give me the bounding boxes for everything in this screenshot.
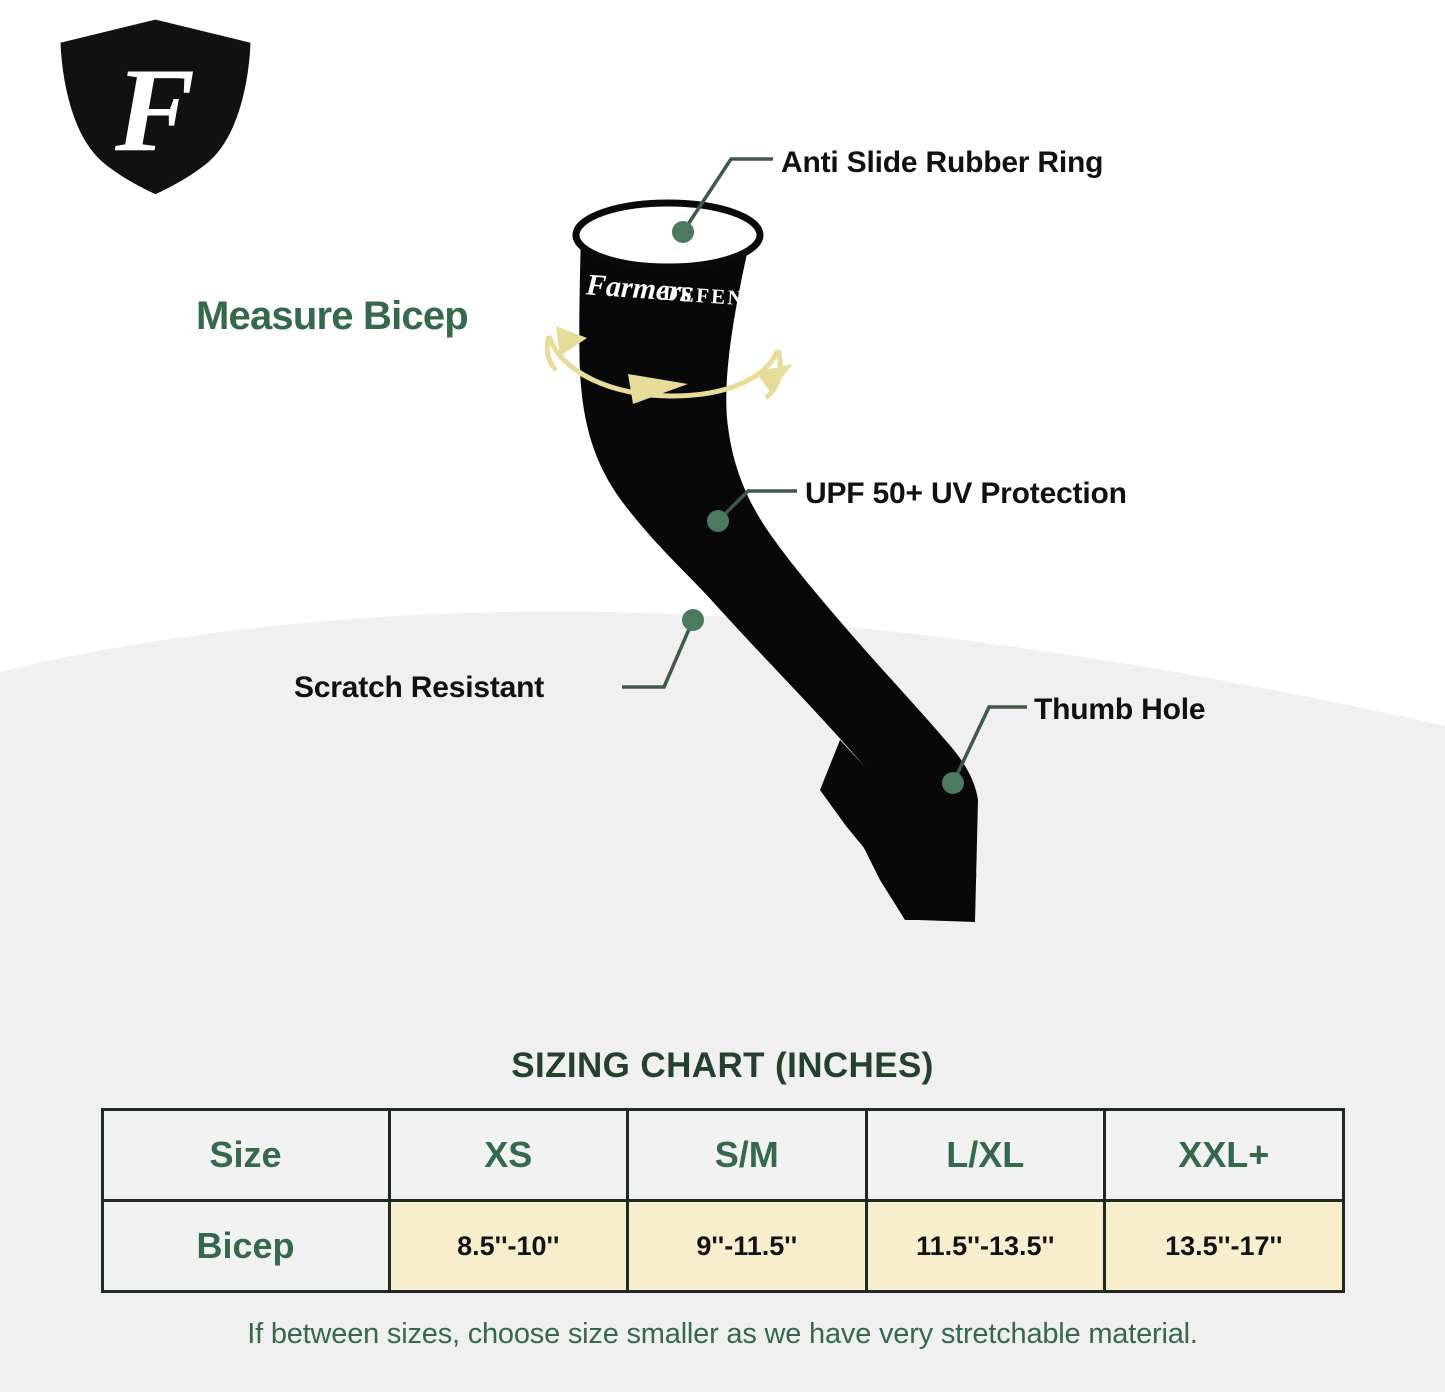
callout-label-scratch-resistant: Scratch Resistant	[294, 671, 544, 705]
table-header-row: Size XS S/M L/XL XXL+	[102, 1110, 1343, 1201]
sleeve-silhouette	[579, 236, 978, 922]
table-cell-bicep-sm: 9''-11.5''	[628, 1201, 867, 1292]
callout-label-upf-uv-protection: UPF 50+ UV Protection	[805, 477, 1127, 511]
table-header-cell-sm: S/M	[628, 1110, 867, 1201]
table-header-cell-size: Size	[102, 1110, 389, 1201]
sizing-chart-section: SIZING CHART (INCHES) Size XS S/M L/XL X…	[0, 1030, 1445, 1392]
marker-upf-uv-protection	[707, 510, 729, 532]
leader-scratch-resistant	[622, 620, 693, 687]
sizing-chart-note: If between sizes, choose size smaller as…	[0, 1318, 1445, 1351]
marker-thumb-hole	[942, 772, 964, 794]
table-row: Bicep 8.5''-10'' 9''-11.5'' 11.5''-13.5'…	[102, 1201, 1343, 1292]
sizing-chart-title: SIZING CHART (INCHES)	[0, 1030, 1445, 1086]
marker-anti-slide-rubber-ring	[672, 221, 694, 243]
table-cell-bicep-xs: 8.5''-10''	[389, 1201, 628, 1292]
table-row-label-bicep: Bicep	[102, 1201, 389, 1292]
callout-label-anti-slide-rubber-ring: Anti Slide Rubber Ring	[781, 146, 1103, 180]
table-header-cell-lxl: L/XL	[866, 1110, 1105, 1201]
callout-label-thumb-hole: Thumb Hole	[1034, 693, 1205, 727]
callout-label-measure-bicep: Measure Bicep	[196, 294, 468, 339]
table-header-cell-xs: XS	[389, 1110, 628, 1201]
table-cell-bicep-lxl: 11.5''-13.5''	[866, 1201, 1105, 1292]
sleeve-cuff	[576, 203, 760, 267]
marker-scratch-resistant	[682, 609, 704, 631]
table-cell-bicep-xxl: 13.5''-17''	[1105, 1201, 1344, 1292]
infographic-page: F Farmers DEFENSE	[0, 0, 1445, 1392]
sizing-chart-table: Size XS S/M L/XL XXL+ Bicep 8.5''-10'' 9…	[101, 1108, 1345, 1293]
arm-sleeve-illustration: Farmers DEFENSE	[0, 0, 1445, 1030]
table-header-cell-xxl: XXL+	[1105, 1110, 1344, 1201]
